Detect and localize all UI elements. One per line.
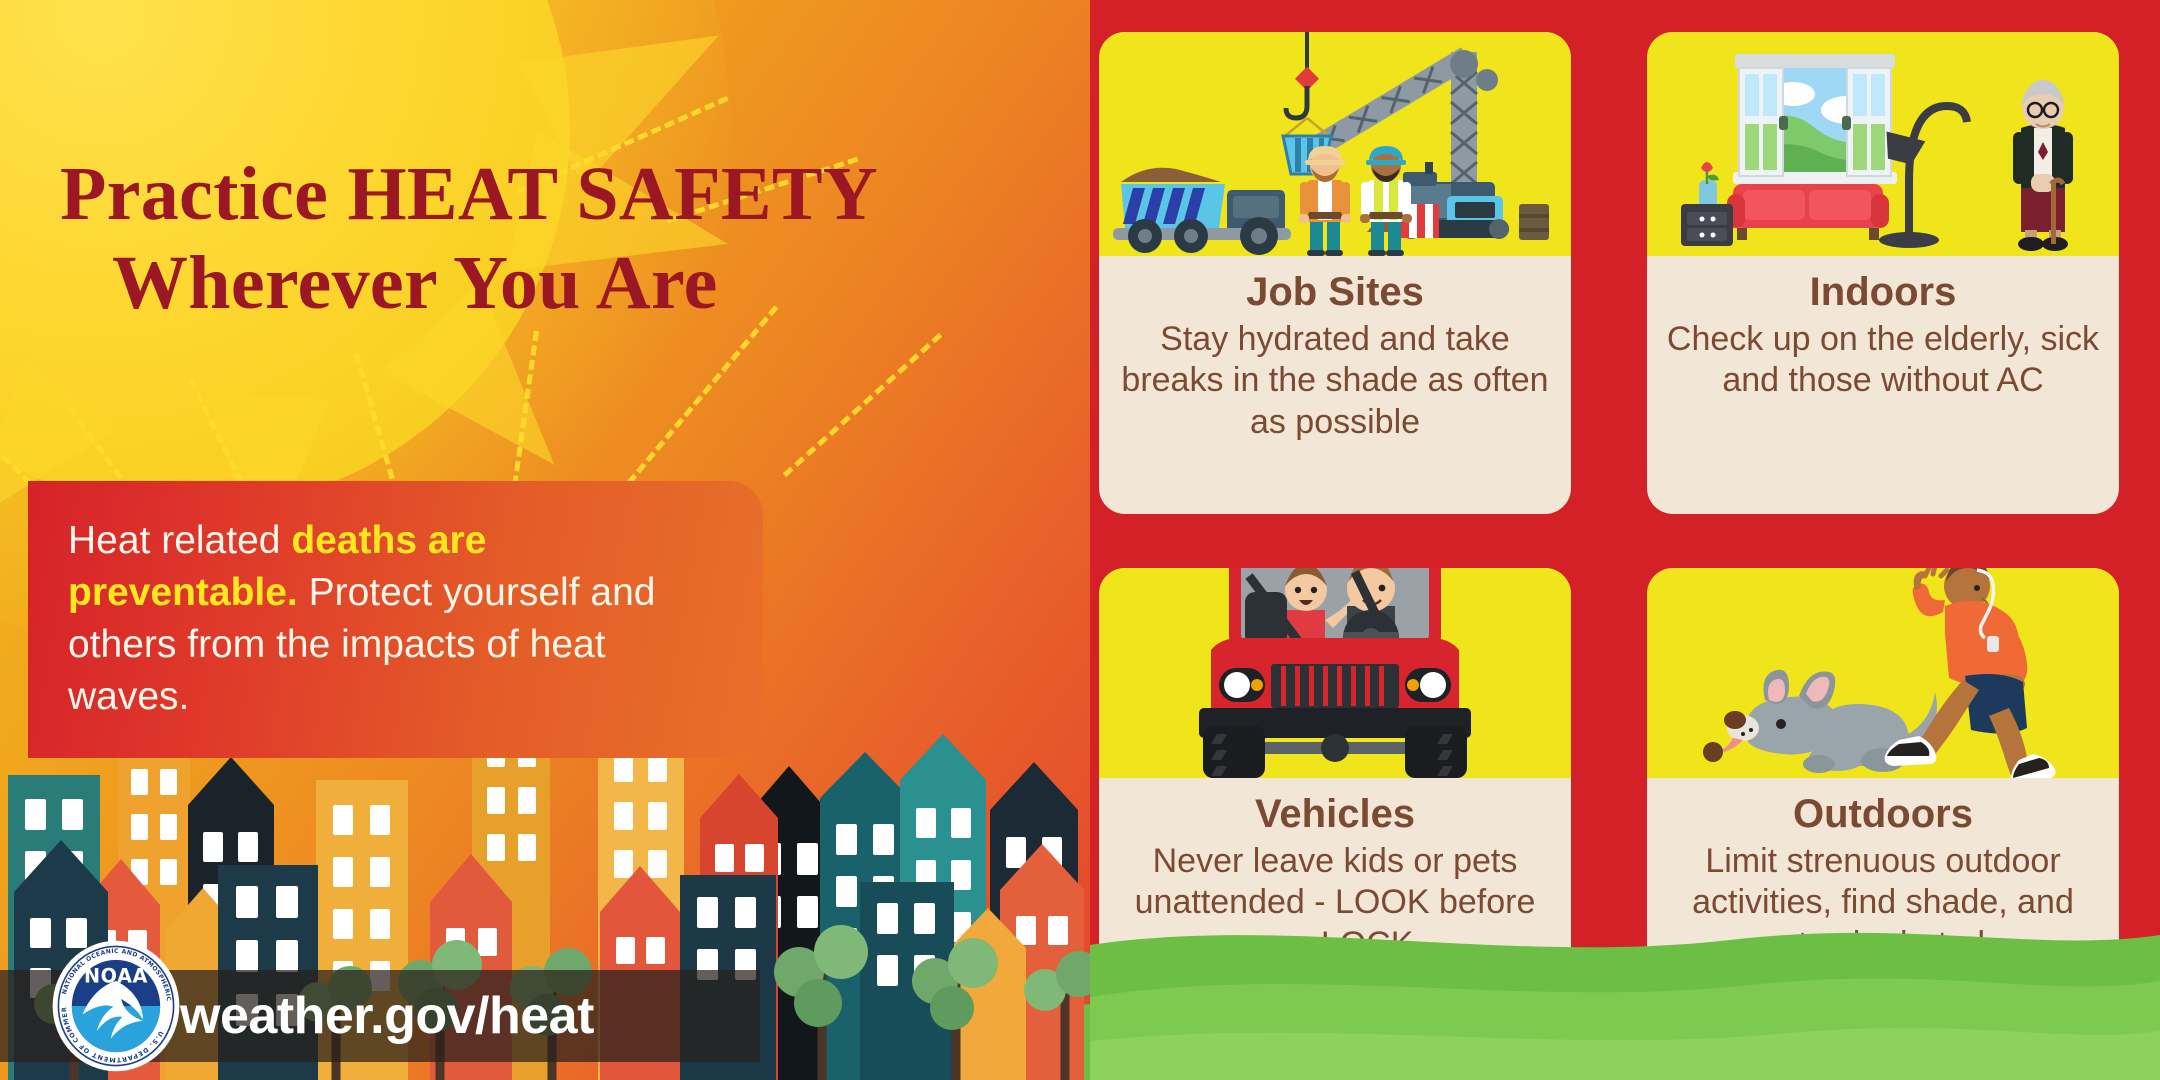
tree-leaf [948,938,998,988]
roof [900,734,986,780]
roof [820,752,910,798]
noaa-logo: NOAA NATIONAL OCEANIC AND ATMOSPHERIC AD… [52,940,180,1072]
window [370,805,390,835]
tree [1020,945,1090,1080]
roof [700,774,778,818]
window [25,799,46,830]
window [238,832,258,862]
window [276,886,298,918]
grass-hills [1090,905,2160,1080]
window [131,769,148,795]
window [836,824,857,855]
window [160,814,177,840]
blurb-box: Heat related deaths are preventable. Pro… [28,481,763,758]
roof [188,757,274,805]
window [518,787,536,814]
roof [430,854,512,902]
window [614,754,633,782]
window [877,955,898,986]
window [131,814,148,840]
window [614,802,633,830]
window [333,909,353,939]
svg-text:NOAA: NOAA [84,964,148,987]
card-indoors[interactable]: Indoors Check up on the elderly, sick an… [1647,32,2119,514]
tree-leaf [814,925,868,979]
title-line-1: Practice HEAT SAFETY [60,150,1020,239]
window [735,897,756,928]
card-body: Indoors Check up on the elderly, sick an… [1647,256,2119,402]
card-title: Vehicles [1113,792,1557,837]
heat-safety-infographic: Practice HEAT SAFETY Wherever You Are He… [0,0,2160,1080]
vehicle-illustration [1099,568,1571,778]
window [951,808,971,838]
window [333,857,353,887]
window [745,844,764,872]
noaa-seal-icon: NOAA NATIONAL OCEANIC AND ATMOSPHERIC AD… [52,940,180,1072]
elderly-woman-figure [2013,80,2073,251]
card-description: Stay hydrated and take breaks in the sha… [1113,319,1557,443]
window [333,805,353,835]
window [836,876,857,907]
window [648,754,667,782]
construction-site-illustration [1099,32,1571,256]
tree [770,915,874,1080]
card-title: Indoors [1661,270,2105,315]
roof [600,866,680,912]
window [951,860,971,890]
card-body: Job Sites Stay hydrated and take breaks … [1099,256,1571,443]
window [487,787,505,814]
window [916,808,936,838]
roof [1000,844,1084,890]
window [370,909,390,939]
window [1048,916,1068,945]
window [203,832,223,862]
window [646,937,665,964]
roof [990,762,1078,810]
living-room-illustration [1647,32,2119,256]
roof [14,840,108,892]
window [616,937,635,964]
window [797,843,818,875]
card-job-sites[interactable]: Job Sites Stay hydrated and take breaks … [1099,32,1571,514]
website-url[interactable]: weather.gov/heat [180,986,594,1046]
page-title: Practice HEAT SAFETY Wherever You Are [60,150,1020,328]
window [873,824,894,855]
window [877,903,898,934]
window [30,918,51,948]
card-title: Outdoors [1661,792,2105,837]
left-panel: Practice HEAT SAFETY Wherever You Are He… [0,0,1090,1080]
outdoors-illustration [1647,568,2119,778]
window [715,844,734,872]
window [236,886,258,918]
card-title: Job Sites [1113,270,1557,315]
window [62,799,83,830]
window [648,802,667,830]
dashed-sun-ray [783,333,942,477]
window [160,769,177,795]
worker-figure [1360,146,1412,256]
window [236,940,258,972]
title-line-2: Wherever You Are [60,239,1020,328]
tree-leaf [930,986,974,1030]
tree-leaf [794,979,842,1027]
jogger-figure [1885,568,2056,778]
blurb-text-1: Heat related [68,519,291,562]
card-description: Check up on the elderly, sick and those … [1661,319,2105,402]
window [518,834,536,861]
window [160,859,177,885]
tree [908,930,1004,1080]
worker-figure [1299,146,1351,256]
window [370,857,390,887]
window [697,897,718,928]
